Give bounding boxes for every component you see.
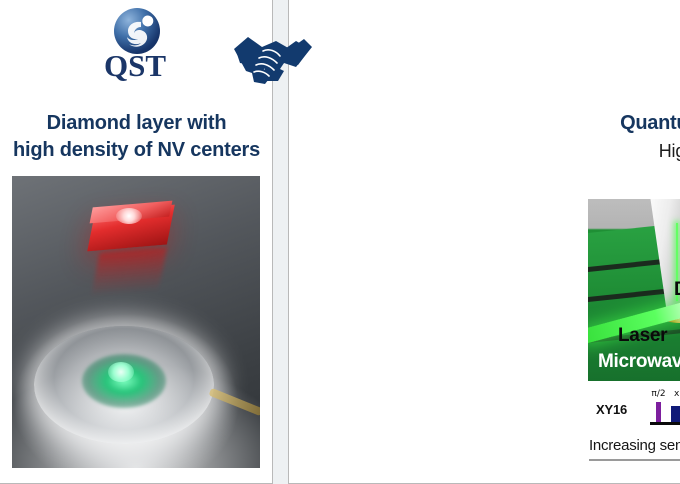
label-microwave-circuit: Microwave circuit bbox=[598, 351, 680, 373]
pulse-bar bbox=[656, 402, 661, 422]
label-diamond: Diamond bbox=[674, 279, 680, 301]
qst-logo: QST bbox=[92, 8, 178, 90]
label-laser: Laser bbox=[618, 325, 667, 347]
sequence-name-label: XY16 bbox=[596, 402, 627, 417]
green-glow-core bbox=[108, 362, 134, 382]
handshake-icon bbox=[232, 27, 314, 89]
right-panel-title: Quantum noise reduction system bbox=[579, 110, 680, 136]
qst-wordmark: QST bbox=[92, 50, 178, 81]
pulse-bar bbox=[671, 406, 680, 422]
left-panel-title: Diamond layer with high density of NV ce… bbox=[4, 110, 269, 164]
caption-block: Increasing sensitivity with quantum mani… bbox=[589, 437, 680, 454]
diamond-nv-photo bbox=[12, 176, 260, 468]
laser-spot bbox=[116, 208, 142, 224]
microwave-circuit-photo: Diamond Laser Microwave circuit bbox=[588, 199, 680, 381]
subtitle-line-2: using quantum filters bbox=[589, 163, 680, 186]
poster-root: QST Diamond layer with high density of N… bbox=[0, 0, 680, 484]
caption-underline bbox=[589, 459, 680, 461]
caption-text: Increasing sensitivity with quantum mani… bbox=[589, 437, 680, 454]
pulse-sequence-diagram: XY16 π/2xyxyyxyxxyxyyxyxπ/2 bbox=[588, 388, 680, 432]
sequence-track: π/2xyxyyxyxxyxyyxyxπ/2 bbox=[650, 392, 680, 430]
subtitle-line-1: High-sensitivity measurement bbox=[589, 140, 680, 163]
right-panel: Tokyo Tech Quantum noise reduction syste… bbox=[288, 0, 680, 484]
right-panel-subtitle: High-sensitivity measurement using quant… bbox=[589, 140, 680, 186]
diamond-reflection bbox=[91, 247, 167, 297]
pulse-label: x bbox=[665, 390, 680, 399]
left-title-line-1: Diamond layer with bbox=[4, 110, 269, 137]
left-title-line-2: high density of NV centers bbox=[4, 137, 269, 164]
time-axis bbox=[650, 422, 680, 425]
